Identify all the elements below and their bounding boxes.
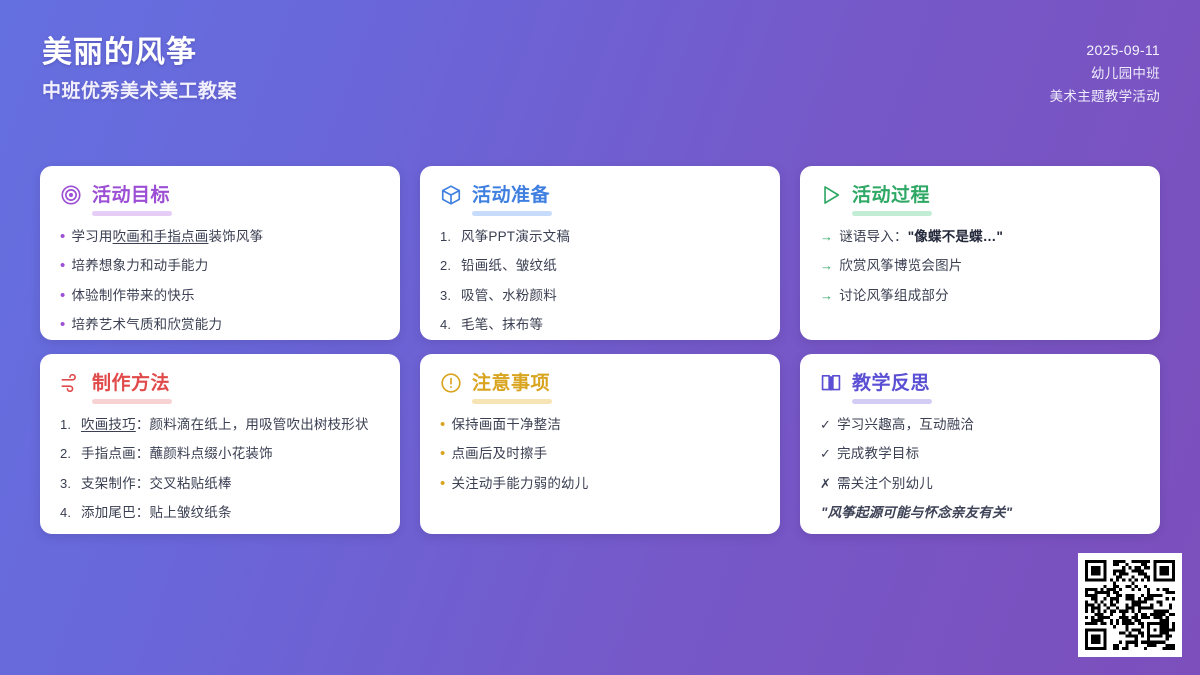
list-item-text: 支架制作：交叉粘贴纸棒 [81,474,380,494]
list-item: 4.毛笔、抹布等 [440,315,760,335]
list-item: 2.手指点画：蘸颜料点缀小花装饰 [60,444,380,464]
list-item: ✗需关注个别幼儿 [820,474,1140,494]
card-header: 活动准备 [440,184,760,206]
title-block: 美丽的风筝 中班优秀美术美工教案 [40,34,237,103]
slide-header: 美丽的风筝 中班优秀美术美工教案 2025-09-11 幼儿园中班 美术主题教学… [0,0,1200,140]
card-body: •保持画面干净整洁•点画后及时擦手•关注动手能力弱的幼儿 [440,415,760,494]
list-item-marker: ✓ [820,415,831,435]
card-body: →谜语导入："像蝶不是蝶…"→欣赏风筝博览会图片→讨论风筝组成部分 [820,227,1140,306]
list-item-marker: 3. [60,474,75,494]
card-title-underline [852,211,932,216]
meta-date: 2025-09-11 [1050,38,1160,62]
list-item-marker: → [820,227,833,247]
list-item: 3.支架制作：交叉粘贴纸棒 [60,474,380,494]
qr-code[interactable] [1078,553,1182,657]
list-item-text: 保持画面干净整洁 [451,415,760,435]
box-icon [440,184,462,206]
list-item-text: 添加尾巴：贴上皱纹纸条 [81,503,380,523]
list-item-text: 点画后及时擦手 [451,444,760,464]
list-item-marker: 4. [440,315,455,335]
list-item-marker: 1. [60,415,75,435]
list-item-text: 培养想象力和动手能力 [71,256,380,276]
card-body: •学习用吹画和手指点画装饰风筝•培养想象力和动手能力•体验制作带来的快乐•培养艺… [60,227,380,335]
list-item-text: 铅画纸、皱纹纸 [461,256,760,276]
card-title: 活动过程 [852,186,930,205]
list-item: ✓学习兴趣高，互动融洽 [820,415,1140,435]
list-item-text: 学习兴趣高，互动融洽 [837,415,1140,435]
list-item-marker: 1. [440,227,455,247]
list-item-marker: • [440,444,445,464]
card-header: 制作方法 [60,372,380,394]
list-item-text: 需关注个别幼儿 [837,474,1140,494]
list-item: •培养想象力和动手能力 [60,256,380,276]
list-item-marker: → [820,256,833,276]
list-item: •保持画面干净整洁 [440,415,760,435]
list-item-marker: • [60,286,65,306]
card-2: 活动准备1.风筝PPT演示文稿2.铅画纸、皱纹纸3.吸管、水粉颜料4.毛笔、抹布… [420,166,780,340]
list-item: •培养艺术气质和欣赏能力 [60,315,380,335]
list-item: 2.铅画纸、皱纹纸 [440,256,760,276]
list-item-text: 欣赏风筝博览会图片 [839,256,1140,276]
card-body: 1.风筝PPT演示文稿2.铅画纸、皱纹纸3.吸管、水粉颜料4.毛笔、抹布等 [440,227,760,335]
card-1: 活动目标•学习用吹画和手指点画装饰风筝•培养想象力和动手能力•体验制作带来的快乐… [40,166,400,340]
card-6: 教学反思✓学习兴趣高，互动融洽✓完成教学目标✗需关注个别幼儿"风筝起源可能与怀念… [800,354,1160,534]
play-icon [820,184,842,206]
list-item-marker: 2. [60,444,75,464]
target-icon [60,184,82,206]
list-item: 1.吹画技巧：颜料滴在纸上，用吸管吹出树枝形状 [60,415,380,435]
card-title-underline [472,211,552,216]
list-item-marker: • [60,227,65,247]
card-title-underline [852,399,932,404]
card-title: 活动目标 [92,186,170,205]
list-item: •体验制作带来的快乐 [60,286,380,306]
card-header: 教学反思 [820,372,1140,394]
card-title: 制作方法 [92,374,170,393]
list-item-text: 谜语导入："像蝶不是蝶…" [839,227,1140,247]
card-body: ✓学习兴趣高，互动融洽✓完成教学目标✗需关注个别幼儿"风筝起源可能与怀念亲友有关… [820,415,1140,523]
list-item: "风筝起源可能与怀念亲友有关" [820,503,1140,523]
list-item-text: 风筝PPT演示文稿 [461,227,760,247]
card-5: 注意事项•保持画面干净整洁•点画后及时擦手•关注动手能力弱的幼儿 [420,354,780,534]
list-item-marker: • [440,474,445,494]
slide-root: 美丽的风筝 中班优秀美术美工教案 2025-09-11 幼儿园中班 美术主题教学… [0,0,1200,675]
list-item: 1.风筝PPT演示文稿 [440,227,760,247]
list-item: →欣赏风筝博览会图片 [820,256,1140,276]
list-item-text: 吹画技巧：颜料滴在纸上，用吸管吹出树枝形状 [81,415,380,435]
list-item-text: 毛笔、抹布等 [461,315,760,335]
wind-icon [60,372,82,394]
list-item: •学习用吹画和手指点画装饰风筝 [60,227,380,247]
card-3: 活动过程→谜语导入："像蝶不是蝶…"→欣赏风筝博览会图片→讨论风筝组成部分 [800,166,1160,340]
card-header: 活动过程 [820,184,1140,206]
list-item-marker: • [440,415,445,435]
meta-category: 美术主题教学活动 [1050,85,1160,108]
card-title-underline [472,399,552,404]
card-title: 注意事项 [472,374,550,393]
list-item-text: "风筝起源可能与怀念亲友有关" [821,503,1140,523]
list-item: 4.添加尾巴：贴上皱纹纸条 [60,503,380,523]
list-item-marker: 3. [440,286,455,306]
list-item-marker: • [60,256,65,276]
list-item: ✓完成教学目标 [820,444,1140,464]
list-item: •点画后及时擦手 [440,444,760,464]
card-body: 1.吹画技巧：颜料滴在纸上，用吸管吹出树枝形状2.手指点画：蘸颜料点缀小花装饰3… [60,415,380,523]
card-title-underline [92,399,172,404]
header-meta: 2025-09-11 幼儿园中班 美术主题教学活动 [1050,34,1160,109]
list-item-text: 关注动手能力弱的幼儿 [451,474,760,494]
alert-circle-icon [440,372,462,394]
card-header: 活动目标 [60,184,380,206]
page-title: 美丽的风筝 [42,34,237,72]
list-item: →谜语导入："像蝶不是蝶…" [820,227,1140,247]
card-grid: 活动目标•学习用吹画和手指点画装饰风筝•培养想象力和动手能力•体验制作带来的快乐… [40,166,1160,534]
card-4: 制作方法1.吹画技巧：颜料滴在纸上，用吸管吹出树枝形状2.手指点画：蘸颜料点缀小… [40,354,400,534]
list-item: →讨论风筝组成部分 [820,286,1140,306]
meta-grade: 幼儿园中班 [1050,62,1160,85]
list-item-marker: 2. [440,256,455,276]
list-item-marker: ✓ [820,444,831,464]
list-item-marker: 4. [60,503,75,523]
list-item: 3.吸管、水粉颜料 [440,286,760,306]
card-title: 活动准备 [472,186,550,205]
list-item-text: 体验制作带来的快乐 [71,286,380,306]
list-item-text: 讨论风筝组成部分 [839,286,1140,306]
list-item-text: 手指点画：蘸颜料点缀小花装饰 [81,444,380,464]
list-item-text: 学习用吹画和手指点画装饰风筝 [71,227,380,247]
list-item-text: 吸管、水粉颜料 [461,286,760,306]
book-icon [820,372,842,394]
list-item-marker: → [820,286,833,306]
list-item-text: 培养艺术气质和欣赏能力 [71,315,380,335]
qr-code-icon [1085,560,1175,650]
card-title-underline [92,211,172,216]
list-item-marker: ✗ [820,474,831,494]
page-subtitle: 中班优秀美术美工教案 [42,80,237,104]
list-item: •关注动手能力弱的幼儿 [440,474,760,494]
list-item-text: 完成教学目标 [837,444,1140,464]
list-item-marker: • [60,315,65,335]
card-header: 注意事项 [440,372,760,394]
card-title: 教学反思 [852,374,930,393]
